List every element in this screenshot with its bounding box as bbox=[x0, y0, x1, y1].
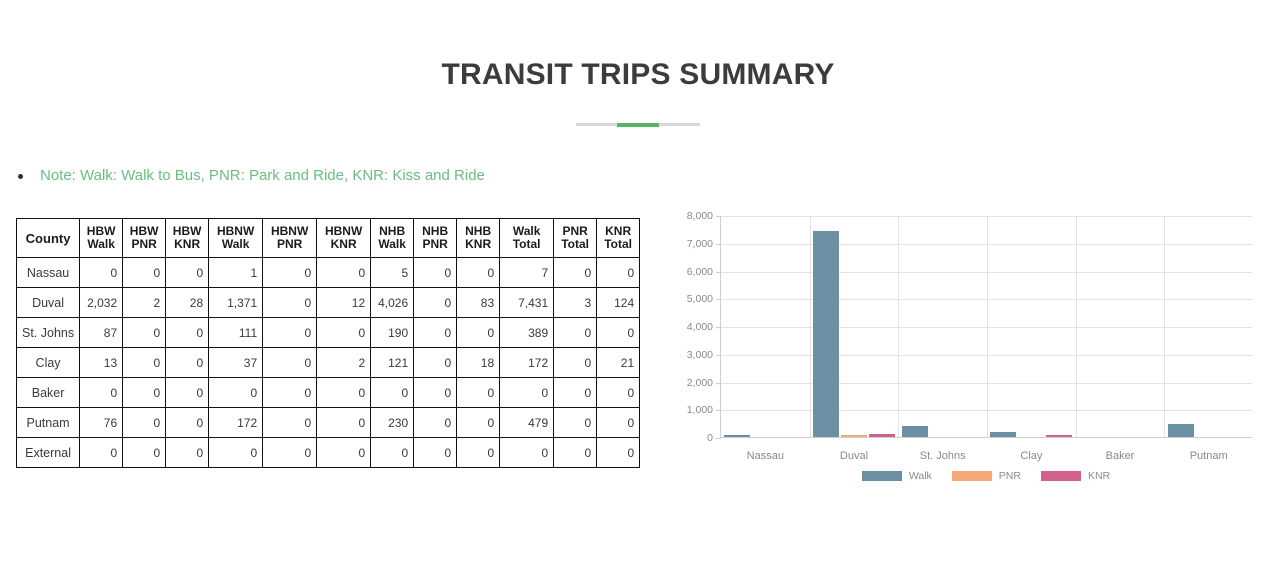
chart-bar-walk[interactable] bbox=[813, 231, 839, 437]
table-cell-hbnw_knr: 0 bbox=[317, 258, 371, 288]
table-cell-county: St. Johns bbox=[17, 318, 80, 348]
table-cell-nhb_pnr: 0 bbox=[414, 318, 457, 348]
chart-ytick-mark bbox=[716, 438, 721, 439]
chart-xtick-label: Clay bbox=[1020, 450, 1042, 462]
table-cell-nhb_knr: 83 bbox=[457, 288, 500, 318]
chart-ytick-label: 7,000 bbox=[687, 238, 713, 250]
table-cell-hbnw_pnr: 0 bbox=[263, 288, 317, 318]
table-cell-hbnw_pnr: 0 bbox=[263, 408, 317, 438]
table-cell-hbnw_walk: 0 bbox=[209, 378, 263, 408]
chart-xtick-label: St. Johns bbox=[920, 450, 966, 462]
table-cell-county: Baker bbox=[17, 378, 80, 408]
note-list-item: Note: Walk: Walk to Bus, PNR: Park and R… bbox=[18, 165, 485, 187]
chart-bar-walk[interactable] bbox=[724, 435, 750, 437]
transit-trips-table: CountyHBWWalkHBWPNRHBWKNRHBNWWalkHBNWPNR… bbox=[16, 218, 640, 468]
table-col-header-hbw_pnr: HBWPNR bbox=[123, 219, 166, 258]
title-divider bbox=[576, 123, 700, 126]
chart-bar-walk[interactable] bbox=[1168, 424, 1194, 437]
table-col-header-nhb_knr: NHBKNR bbox=[457, 219, 500, 258]
table-cell-nhb_knr: 0 bbox=[457, 438, 500, 468]
table-cell-walk_total: 7,431 bbox=[500, 288, 554, 318]
table-cell-hbw_pnr: 2 bbox=[123, 288, 166, 318]
table-cell-nhb_walk: 0 bbox=[371, 438, 414, 468]
table-cell-knr_total: 0 bbox=[597, 378, 640, 408]
table-cell-hbw_knr: 0 bbox=[166, 408, 209, 438]
chart-ytick-label: 4,000 bbox=[687, 321, 713, 333]
table-cell-hbw_knr: 0 bbox=[166, 258, 209, 288]
table-header: CountyHBWWalkHBWPNRHBWKNRHBNWWalkHBNWPNR… bbox=[17, 219, 640, 258]
chart-bar-pnr[interactable] bbox=[841, 435, 867, 437]
chart-legend-swatch bbox=[862, 471, 902, 481]
table-cell-knr_total: 0 bbox=[597, 318, 640, 348]
chart-category-group: Clay bbox=[987, 216, 1076, 437]
chart-legend-item-walk[interactable]: Walk bbox=[862, 470, 932, 482]
table-cell-pnr_total: 0 bbox=[554, 348, 597, 378]
table-cell-nhb_knr: 0 bbox=[457, 258, 500, 288]
table-cell-pnr_total: 0 bbox=[554, 318, 597, 348]
table-col-header-hbw_walk: HBWWalk bbox=[80, 219, 123, 258]
table-cell-hbnw_walk: 37 bbox=[209, 348, 263, 378]
chart-xtick-label: Nassau bbox=[747, 450, 784, 462]
chart-bar-walk[interactable] bbox=[990, 432, 1016, 437]
chart-plot-area: 01,0002,0003,0004,0005,0006,0007,0008,00… bbox=[720, 216, 1252, 438]
table-cell-nhb_knr: 0 bbox=[457, 378, 500, 408]
chart-legend-label: Walk bbox=[909, 470, 932, 482]
table-col-header-hbw_knr: HBWKNR bbox=[166, 219, 209, 258]
chart-legend-label: PNR bbox=[999, 470, 1021, 482]
chart-legend: WalkPNRKNR bbox=[720, 470, 1252, 482]
chart-ytick-label: 6,000 bbox=[687, 266, 713, 278]
chart-legend-swatch bbox=[952, 471, 992, 481]
table-cell-nhb_pnr: 0 bbox=[414, 438, 457, 468]
chart-xtick-label: Duval bbox=[840, 450, 868, 462]
table-cell-county: Putnam bbox=[17, 408, 80, 438]
table-cell-walk_total: 389 bbox=[500, 318, 554, 348]
table-header-row: CountyHBWWalkHBWPNRHBWKNRHBNWWalkHBNWPNR… bbox=[17, 219, 640, 258]
table-cell-walk_total: 479 bbox=[500, 408, 554, 438]
table-cell-nhb_walk: 190 bbox=[371, 318, 414, 348]
chart-legend-swatch bbox=[1041, 471, 1081, 481]
table-cell-nhb_walk: 230 bbox=[371, 408, 414, 438]
table-cell-nhb_walk: 4,026 bbox=[371, 288, 414, 318]
table-cell-pnr_total: 3 bbox=[554, 288, 597, 318]
table-cell-pnr_total: 0 bbox=[554, 258, 597, 288]
chart-category-group: Nassau bbox=[721, 216, 810, 437]
table-cell-hbnw_walk: 1,371 bbox=[209, 288, 263, 318]
table-cell-hbnw_pnr: 0 bbox=[263, 348, 317, 378]
chart-category-group: St. Johns bbox=[898, 216, 987, 437]
table-col-header-knr_total: KNRTotal bbox=[597, 219, 640, 258]
table-cell-hbw_pnr: 0 bbox=[123, 318, 166, 348]
table-cell-hbw_knr: 0 bbox=[166, 348, 209, 378]
table-cell-hbnw_walk: 1 bbox=[209, 258, 263, 288]
table-cell-hbw_knr: 0 bbox=[166, 318, 209, 348]
title-divider-accent bbox=[617, 123, 659, 127]
table-cell-knr_total: 21 bbox=[597, 348, 640, 378]
table-cell-walk_total: 0 bbox=[500, 438, 554, 468]
table-cell-hbw_walk: 0 bbox=[80, 258, 123, 288]
table-col-header-hbnw_pnr: HBNWPNR bbox=[263, 219, 317, 258]
table-cell-nhb_walk: 0 bbox=[371, 378, 414, 408]
table-col-header-hbnw_knr: HBNWKNR bbox=[317, 219, 371, 258]
table-cell-hbw_walk: 76 bbox=[80, 408, 123, 438]
table-cell-nhb_knr: 18 bbox=[457, 348, 500, 378]
note-text: Note: Walk: Walk to Bus, PNR: Park and R… bbox=[40, 165, 485, 187]
table-cell-hbw_walk: 0 bbox=[80, 378, 123, 408]
table-cell-hbw_pnr: 0 bbox=[123, 348, 166, 378]
table-cell-hbnw_walk: 0 bbox=[209, 438, 263, 468]
chart-legend-item-pnr[interactable]: PNR bbox=[952, 470, 1021, 482]
table-cell-nhb_knr: 0 bbox=[457, 318, 500, 348]
table-cell-hbw_walk: 2,032 bbox=[80, 288, 123, 318]
chart-legend-label: KNR bbox=[1088, 470, 1110, 482]
chart-category-group: Duval bbox=[810, 216, 899, 437]
table-cell-hbw_knr: 28 bbox=[166, 288, 209, 318]
table-cell-hbnw_knr: 0 bbox=[317, 438, 371, 468]
chart-category-group: Baker bbox=[1076, 216, 1165, 437]
table-cell-hbnw_knr: 0 bbox=[317, 318, 371, 348]
transit-trips-table-container: CountyHBWWalkHBWPNRHBWKNRHBNWWalkHBNWPNR… bbox=[16, 218, 640, 468]
table-cell-nhb_pnr: 0 bbox=[414, 348, 457, 378]
chart-ytick-label: 5,000 bbox=[687, 293, 713, 305]
chart-bar-knr[interactable] bbox=[869, 434, 895, 437]
table-cell-pnr_total: 0 bbox=[554, 438, 597, 468]
table-col-header-nhb_walk: NHBWalk bbox=[371, 219, 414, 258]
table-cell-hbw_pnr: 0 bbox=[123, 378, 166, 408]
table-col-header-county: County bbox=[17, 219, 80, 258]
table-cell-hbnw_knr: 0 bbox=[317, 378, 371, 408]
chart-ytick-label: 0 bbox=[707, 432, 713, 444]
table-row: Duval2,0322281,3710124,0260837,4313124 bbox=[17, 288, 640, 318]
chart-ytick-label: 2,000 bbox=[687, 377, 713, 389]
table-body: Nassau000100500700Duval2,0322281,3710124… bbox=[17, 258, 640, 468]
chart-ytick-label: 1,000 bbox=[687, 404, 713, 416]
table-cell-county: Duval bbox=[17, 288, 80, 318]
table-cell-nhb_walk: 121 bbox=[371, 348, 414, 378]
table-cell-hbnw_knr: 0 bbox=[317, 408, 371, 438]
table-cell-hbw_knr: 0 bbox=[166, 438, 209, 468]
table-row: External000000000000 bbox=[17, 438, 640, 468]
table-col-header-walk_total: WalkTotal bbox=[500, 219, 554, 258]
chart-xtick-label: Baker bbox=[1106, 450, 1135, 462]
table-cell-hbw_pnr: 0 bbox=[123, 438, 166, 468]
table-cell-county: Clay bbox=[17, 348, 80, 378]
chart-bar-walk[interactable] bbox=[902, 426, 928, 437]
chart-legend-item-knr[interactable]: KNR bbox=[1041, 470, 1110, 482]
table-cell-county: Nassau bbox=[17, 258, 80, 288]
table-cell-hbw_knr: 0 bbox=[166, 378, 209, 408]
table-cell-walk_total: 172 bbox=[500, 348, 554, 378]
table-col-header-hbnw_walk: HBNWWalk bbox=[209, 219, 263, 258]
page-title: TRANSIT TRIPS SUMMARY bbox=[0, 0, 1276, 93]
table-cell-hbw_walk: 13 bbox=[80, 348, 123, 378]
table-cell-knr_total: 0 bbox=[597, 408, 640, 438]
table-cell-hbw_pnr: 0 bbox=[123, 408, 166, 438]
table-cell-hbnw_knr: 12 bbox=[317, 288, 371, 318]
table-cell-walk_total: 7 bbox=[500, 258, 554, 288]
table-cell-nhb_knr: 0 bbox=[457, 408, 500, 438]
table-col-header-pnr_total: PNRTotal bbox=[554, 219, 597, 258]
chart-ytick-label: 3,000 bbox=[687, 349, 713, 361]
table-cell-pnr_total: 0 bbox=[554, 408, 597, 438]
table-cell-hbnw_pnr: 0 bbox=[263, 438, 317, 468]
table-cell-hbnw_pnr: 0 bbox=[263, 378, 317, 408]
table-cell-hbw_walk: 0 bbox=[80, 438, 123, 468]
table-cell-nhb_pnr: 0 bbox=[414, 408, 457, 438]
table-cell-hbw_walk: 87 bbox=[80, 318, 123, 348]
table-cell-hbnw_walk: 172 bbox=[209, 408, 263, 438]
table-cell-pnr_total: 0 bbox=[554, 378, 597, 408]
table-row: St. Johns8700111001900038900 bbox=[17, 318, 640, 348]
chart-ytick-label: 8,000 bbox=[687, 210, 713, 222]
table-row: Nassau000100500700 bbox=[17, 258, 640, 288]
table-cell-nhb_pnr: 0 bbox=[414, 288, 457, 318]
table-row: Putnam7600172002300047900 bbox=[17, 408, 640, 438]
table-row: Baker000000000000 bbox=[17, 378, 640, 408]
table-cell-hbnw_knr: 2 bbox=[317, 348, 371, 378]
chart-xtick-label: Putnam bbox=[1190, 450, 1228, 462]
table-cell-walk_total: 0 bbox=[500, 378, 554, 408]
chart-bar-knr[interactable] bbox=[1046, 435, 1072, 437]
table-cell-nhb_pnr: 0 bbox=[414, 258, 457, 288]
table-cell-nhb_walk: 5 bbox=[371, 258, 414, 288]
table-cell-knr_total: 0 bbox=[597, 258, 640, 288]
table-row: Clay13003702121018172021 bbox=[17, 348, 640, 378]
chart-category-group: Putnam bbox=[1164, 216, 1253, 437]
table-cell-county: External bbox=[17, 438, 80, 468]
table-col-header-nhb_pnr: NHBPNR bbox=[414, 219, 457, 258]
table-cell-knr_total: 124 bbox=[597, 288, 640, 318]
table-cell-hbnw_pnr: 0 bbox=[263, 318, 317, 348]
table-cell-hbnw_walk: 111 bbox=[209, 318, 263, 348]
bullet-icon bbox=[18, 174, 23, 179]
transit-trips-bar-chart: 01,0002,0003,0004,0005,0006,0007,0008,00… bbox=[662, 200, 1262, 500]
table-cell-nhb_pnr: 0 bbox=[414, 378, 457, 408]
table-cell-hbw_pnr: 0 bbox=[123, 258, 166, 288]
table-cell-hbnw_pnr: 0 bbox=[263, 258, 317, 288]
table-cell-knr_total: 0 bbox=[597, 438, 640, 468]
